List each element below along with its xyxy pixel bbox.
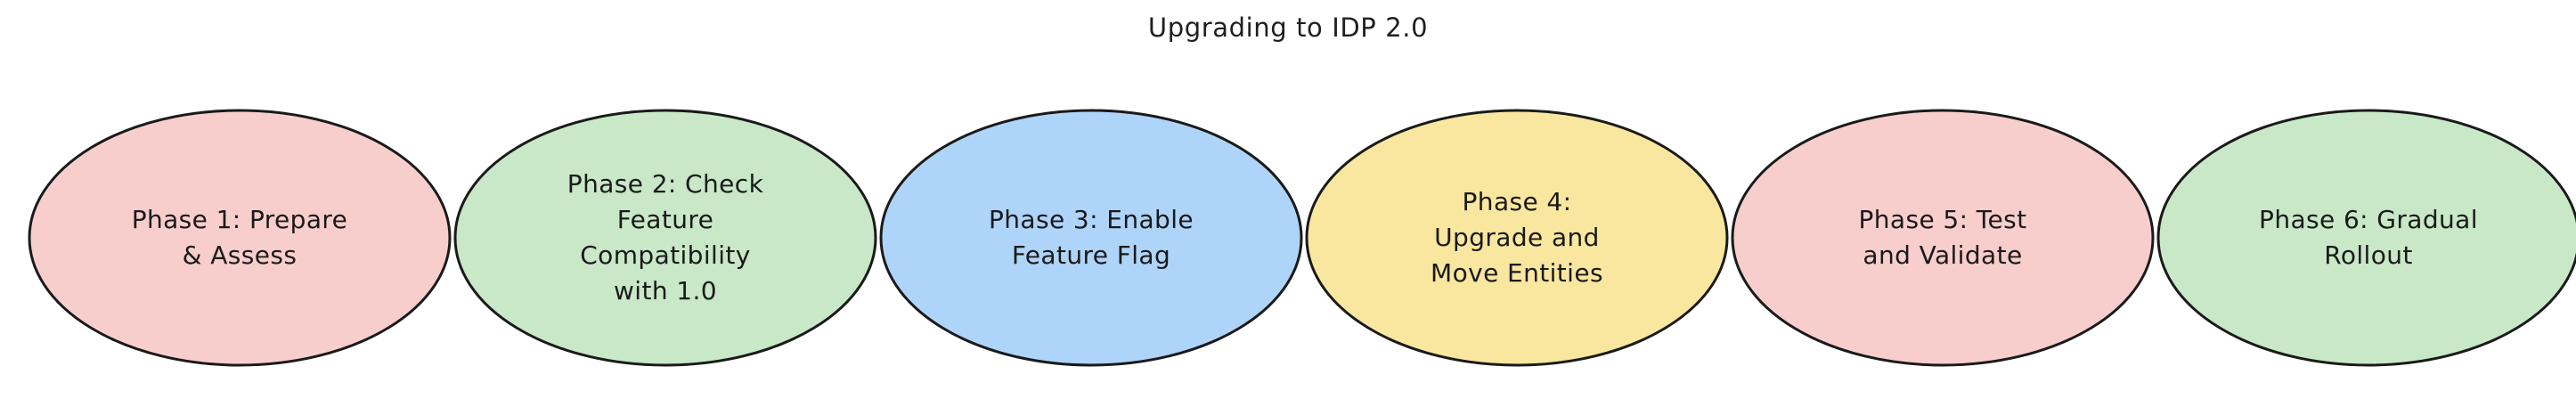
diagram-canvas: Upgrading to IDP 2.0 Phase 1: Prepare & …: [0, 0, 2576, 399]
ellipse-shape-5: [1730, 109, 2156, 367]
ellipse-shape-1: [27, 109, 452, 367]
ellipse-shape-3: [878, 109, 1304, 367]
phase-node-3[interactable]: Phase 3: Enable Feature Flag: [878, 109, 1304, 367]
ellipse-shape-2: [452, 109, 878, 367]
phase-sequence: Phase 1: Prepare & Assess Phase 2: Check…: [0, 0, 2576, 399]
phase-node-2[interactable]: Phase 2: Check Feature Compatibility wit…: [452, 109, 878, 367]
ellipse-shape-6: [2156, 109, 2576, 367]
ellipse-shape-4: [1304, 109, 1730, 367]
phase-node-1[interactable]: Phase 1: Prepare & Assess: [27, 109, 452, 367]
phase-node-6[interactable]: Phase 6: Gradual Rollout: [2156, 109, 2576, 367]
phase-node-4[interactable]: Phase 4: Upgrade and Move Entities: [1304, 109, 1730, 367]
phase-node-5[interactable]: Phase 5: Test and Validate: [1730, 109, 2156, 367]
